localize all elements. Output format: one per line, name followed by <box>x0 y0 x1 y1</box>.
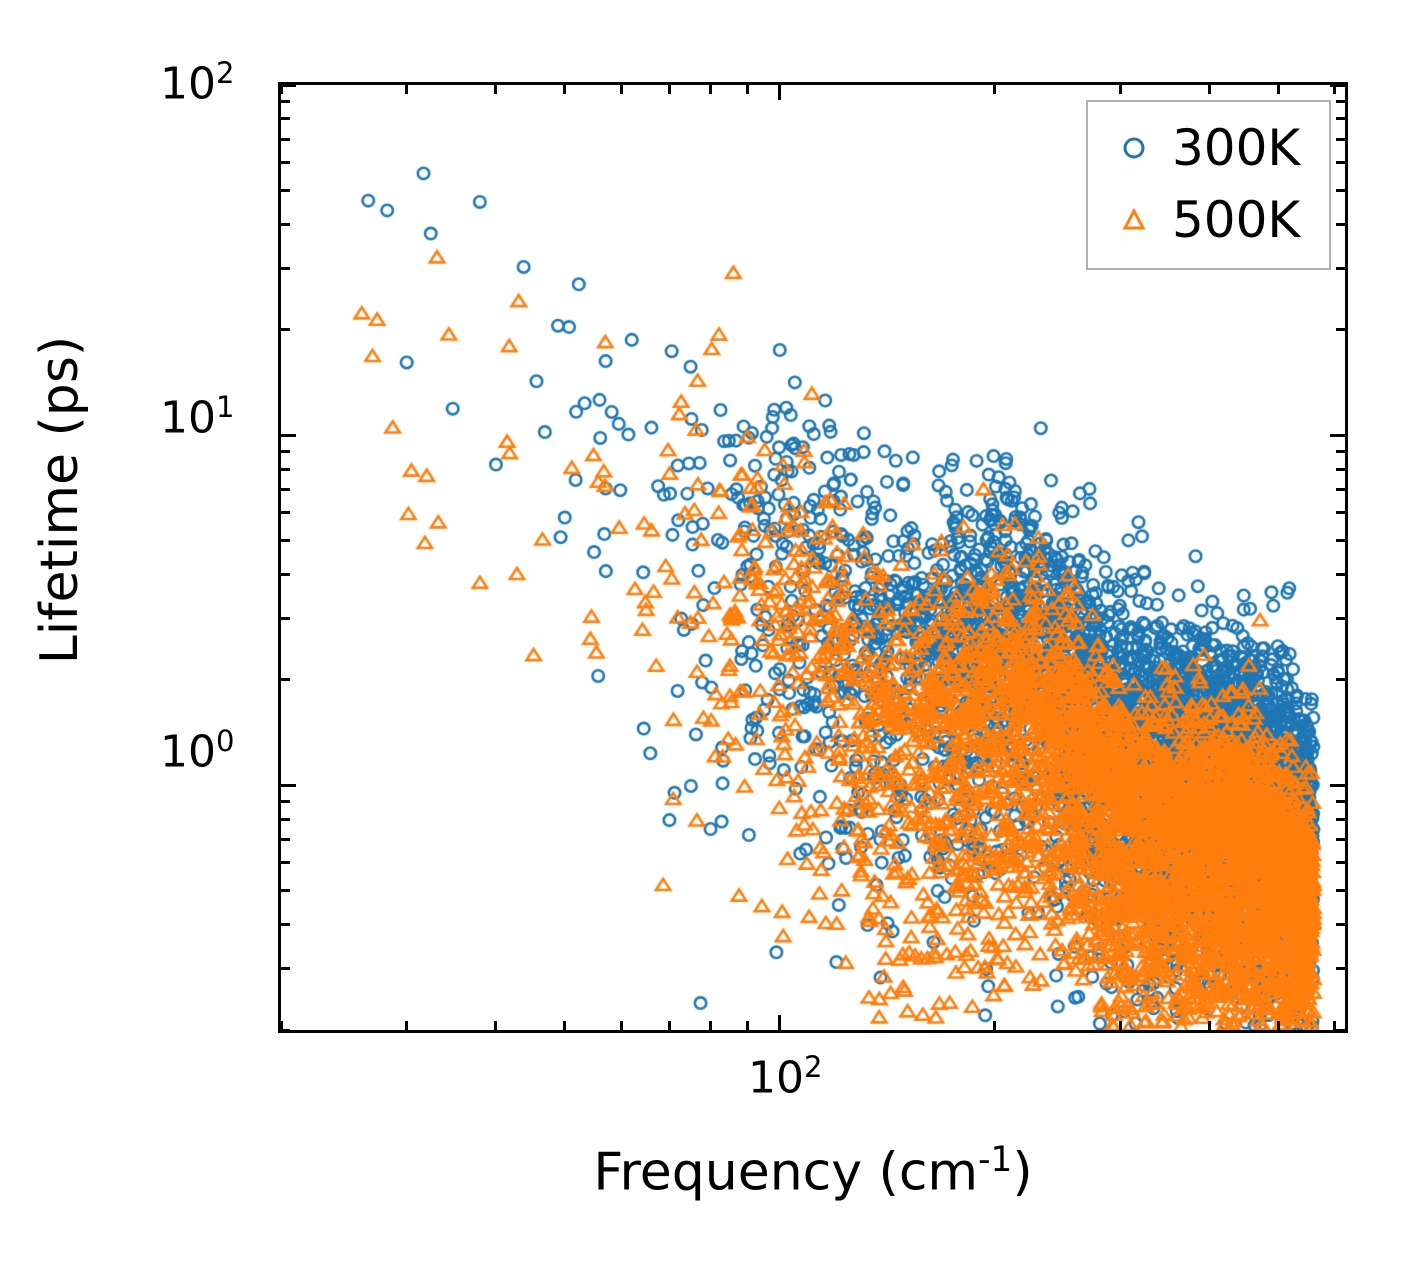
y-tick-minor <box>281 117 290 120</box>
figure-canvas: Lifetime (ps) 100 101 102 102 Frequency … <box>0 0 1408 1285</box>
y-tick-label-100: 102 <box>160 56 234 110</box>
x-tick-minor <box>563 1021 566 1030</box>
y-tick-minor <box>281 138 290 141</box>
x-tick-minor <box>1208 1021 1211 1030</box>
y-tick-minor-right <box>1336 223 1345 226</box>
x-tick-minor-top <box>1277 85 1280 94</box>
y-tick-minor <box>281 967 290 970</box>
y-tick-minor <box>281 923 290 926</box>
y-tick-minor-right <box>1336 967 1345 970</box>
y-tick-major-right <box>1330 84 1345 87</box>
y-tick-minor <box>281 678 290 681</box>
y-tick-minor <box>281 573 290 576</box>
y-tick-major-right <box>1330 784 1345 787</box>
x-tick-minor <box>993 1021 996 1030</box>
y-axis-label: Lifetime (ps) <box>30 190 90 810</box>
y-tick-minor <box>281 818 290 821</box>
y-tick-minor <box>281 617 290 620</box>
y-tick-minor <box>281 889 290 892</box>
y-tick-label-10: 101 <box>160 390 234 444</box>
x-tick-minor-top <box>746 85 749 94</box>
x-tick-minor-top <box>280 85 283 94</box>
y-tick-minor-right <box>1336 923 1345 926</box>
x-tick-major-top <box>778 85 781 100</box>
y-tick-minor <box>281 861 290 864</box>
y-tick-minor-right <box>1336 539 1345 542</box>
y-tick-minor <box>281 100 290 103</box>
y-tick-minor <box>281 511 290 514</box>
x-tick-major <box>778 1015 781 1030</box>
y-tick-minor <box>281 838 290 841</box>
y-tick-minor <box>281 161 290 164</box>
x-tick-minor-top <box>668 85 671 94</box>
y-tick-minor-right <box>1336 818 1345 821</box>
x-tick-minor <box>1333 1021 1336 1030</box>
x-tick-minor <box>620 1021 623 1030</box>
y-tick-minor <box>281 468 290 471</box>
y-tick-minor-right <box>1336 889 1345 892</box>
y-tick-minor-right <box>1336 838 1345 841</box>
x-tick-minor <box>1119 1021 1122 1030</box>
x-tick-minor-top <box>620 85 623 94</box>
x-tick-minor <box>709 1021 712 1030</box>
x-tick-minor <box>405 1021 408 1030</box>
y-tick-minor <box>281 189 290 192</box>
y-tick-minor-right <box>1336 189 1345 192</box>
y-tick-minor-right <box>1336 450 1345 453</box>
legend-entry-300K[interactable]: 300K <box>1102 112 1315 184</box>
legend-marker-circle-icon <box>1102 133 1166 163</box>
x-tick-label-100: 102 <box>748 1050 822 1104</box>
y-tick-minor <box>281 267 290 270</box>
x-tick-minor-top <box>563 85 566 94</box>
y-tick-minor-right <box>1336 617 1345 620</box>
x-tick-minor <box>746 1021 749 1030</box>
y-tick-minor-right <box>1336 468 1345 471</box>
x-tick-minor <box>1277 1021 1280 1030</box>
y-tick-minor-right <box>1336 511 1345 514</box>
y-tick-minor-right <box>1336 100 1345 103</box>
legend-label-300K: 300K <box>1166 119 1300 177</box>
x-tick-minor <box>668 1021 671 1030</box>
x-tick-minor-top <box>1119 85 1122 94</box>
y-tick-major <box>281 84 296 87</box>
x-tick-minor <box>494 1021 497 1030</box>
y-tick-minor <box>281 800 290 803</box>
x-tick-minor-top <box>709 85 712 94</box>
y-tick-major <box>281 434 296 437</box>
y-tick-minor-right <box>1336 1029 1345 1032</box>
y-tick-minor <box>281 450 290 453</box>
x-tick-minor <box>280 1021 283 1030</box>
y-tick-label-1: 100 <box>160 724 234 778</box>
x-tick-minor-top <box>405 85 408 94</box>
y-tick-minor <box>281 488 290 491</box>
x-axis-label: Frequency (cm-1) <box>278 1140 1348 1202</box>
y-tick-minor-right <box>1336 161 1345 164</box>
y-tick-minor-right <box>1336 138 1345 141</box>
y-tick-minor-right <box>1336 573 1345 576</box>
x-tick-minor-top <box>1333 85 1336 94</box>
x-tick-minor-top <box>494 85 497 94</box>
y-tick-minor-right <box>1336 861 1345 864</box>
y-tick-minor-right <box>1336 328 1345 331</box>
legend-label-500K: 500K <box>1166 191 1300 249</box>
y-tick-minor-right <box>1336 800 1345 803</box>
y-tick-minor-right <box>1336 267 1345 270</box>
legend-marker-triangle-icon <box>1102 205 1166 235</box>
y-tick-minor-right <box>1336 488 1345 491</box>
y-tick-minor-right <box>1336 678 1345 681</box>
y-tick-minor <box>281 328 290 331</box>
x-tick-minor-top <box>993 85 996 94</box>
y-tick-major <box>281 784 296 787</box>
x-tick-minor-top <box>1208 85 1211 94</box>
legend-entry-500K[interactable]: 500K <box>1102 184 1315 256</box>
y-tick-minor-right <box>1336 117 1345 120</box>
y-tick-minor <box>281 539 290 542</box>
y-tick-major-right <box>1330 434 1345 437</box>
y-tick-minor <box>281 223 290 226</box>
legend[interactable]: 300K 500K <box>1086 100 1331 270</box>
